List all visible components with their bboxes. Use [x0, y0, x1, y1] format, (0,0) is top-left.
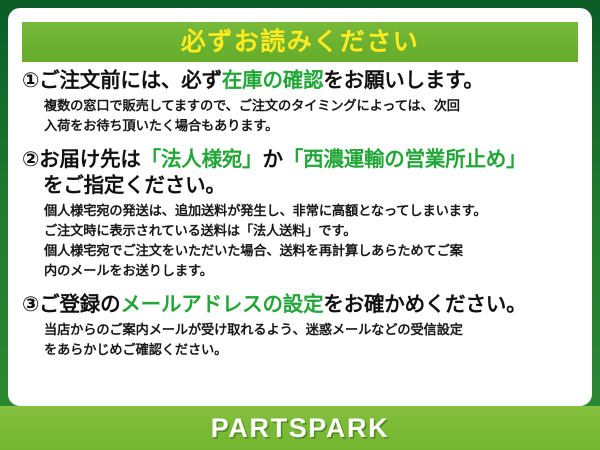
item-3-sub-line-2: をあらかじめご確認ください。 — [22, 340, 580, 360]
item-3-heading-part-1: ご登録の — [39, 293, 120, 316]
item-3-heading-highlight: メールアドレスの設定 — [120, 293, 323, 316]
item-2-heading-part-1: お届け先は — [39, 148, 141, 171]
item-3-heading: ③ご登録のメールアドレスの設定をお確かめください。 — [22, 292, 580, 319]
spacer-2 — [22, 283, 580, 292]
item-2-heading-line2: をご指定ください。 — [22, 173, 580, 200]
item-1-heading-part-1: ご注文前には、必ず — [39, 69, 222, 92]
item-1-heading-part-3: をお願いします。 — [323, 69, 483, 92]
item-2-sub-line-3: 個人様宅宛でご注文をいただいた場合、送料を再計算しあらためてご案 — [22, 241, 580, 261]
notice-card: 必ずお読みください ①ご注文前には、必ず在庫の確認をお願いします。 複数の窓口で… — [0, 0, 600, 450]
notice-item-1: ①ご注文前には、必ず在庫の確認をお願いします。 複数の窓口で販売してますので、ご… — [22, 68, 580, 136]
footer-bar: PARTSPARK — [0, 406, 600, 450]
item-3-heading-part-3: をお確かめください。 — [323, 293, 526, 316]
white-content-card: 必ずお読みください ①ご注文前には、必ず在庫の確認をお願いします。 複数の窓口で… — [8, 8, 592, 406]
spacer-1 — [22, 138, 580, 147]
notice-banner: 必ずお読みください — [22, 22, 578, 62]
item-2-number: ② — [22, 148, 39, 171]
item-1-sub-line-1: 複数の窓口で販売してますので、ご注文のタイミングによっては、次回 — [22, 96, 580, 116]
item-1-heading: ①ご注文前には、必ず在庫の確認をお願いします。 — [22, 68, 580, 95]
item-2-sub-line-4: 内のメールをお送りします。 — [22, 261, 580, 281]
banner-title: 必ずお読みください — [181, 30, 420, 55]
notice-item-3: ③ご登録のメールアドレスの設定をお確かめください。 当店からのご案内メールが受け… — [22, 292, 580, 360]
item-2-heading-part-3: か — [262, 148, 282, 171]
item-2-heading: ②お届け先は「法人様宛」か「西濃運輸の営業所止め」 — [22, 147, 580, 174]
item-1-heading-highlight: 在庫の確認 — [222, 69, 324, 92]
item-2-sub-line-1: 個人様宅宛の発送は、追加送料が発生し、非常に高額となってしまいます。 — [22, 201, 580, 221]
item-3-number: ③ — [22, 293, 39, 316]
notice-body: ①ご注文前には、必ず在庫の確認をお願いします。 複数の窓口で販売してますので、ご… — [8, 68, 592, 362]
item-2-heading-highlight-1: 「法人様宛」 — [141, 148, 263, 171]
notice-item-2: ②お届け先は「法人様宛」か「西濃運輸の営業所止め」 をご指定ください。 個人様宅… — [22, 147, 580, 282]
item-1-sub-line-2: 入荷をお待ち頂いたく場合もあります。 — [22, 116, 580, 136]
item-1-number: ① — [22, 69, 39, 92]
item-3-sub-line-1: 当店からのご案内メールが受け取れるよう、迷惑メールなどの受信設定 — [22, 320, 580, 340]
item-2-heading-highlight-2: 「西濃運輸の営業所止め」 — [283, 148, 527, 171]
item-2-sub-line-2: ご注文時に表示されている送料は「法人送料」です。 — [22, 221, 580, 241]
brand-logo-text: PARTSPARK — [211, 415, 389, 442]
